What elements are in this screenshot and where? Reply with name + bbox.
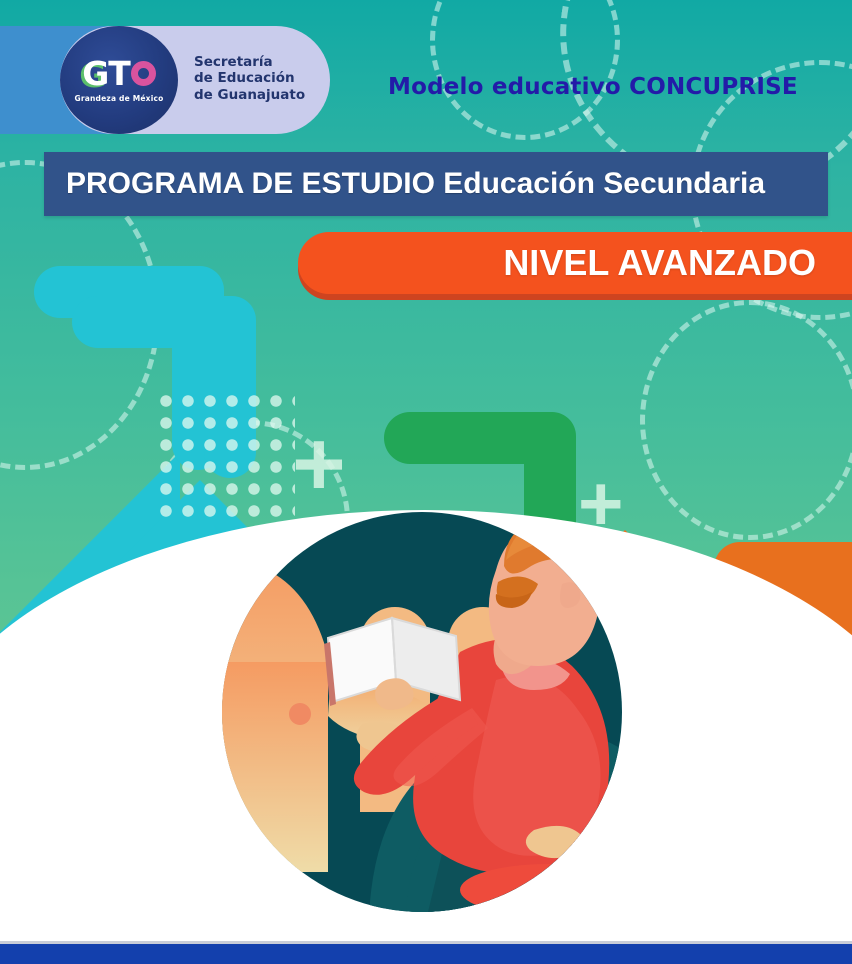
logo-pill: GTO GT Grandeza de México Secretaría de … [60,26,330,134]
gto-logo-tagline: Grandeza de México [75,94,164,103]
stool-stem [540,908,554,922]
gto-wordmark: GTO GT [82,57,156,90]
institution-name: Secretaría de Educación de Guanajuato [194,54,305,103]
illustration-container [210,512,634,922]
program-title-text: PROGRAMA DE ESTUDIO Educación Secundaria [44,167,765,201]
institution-line-3: de Guanajuato [194,87,305,103]
educational-model-label: Modelo educativo CONCUPRISE [388,74,798,100]
gto-logo-letters: G [82,57,108,90]
program-title-bar: PROGRAMA DE ESTUDIO Educación Secundaria [44,152,828,216]
man-reading-book-illustration [210,512,634,922]
plus-sign-icon: + [292,418,346,510]
institution-line-1: Secretaría [194,54,305,70]
stool-seat [460,864,634,916]
gto-logo-letter-t: T [108,57,130,90]
institution-line-2: de Educación [194,70,305,86]
level-banner: NIVEL AVANZADO [298,232,852,294]
background-panel: + + [0,0,852,944]
gto-logo-letter-o [131,61,156,86]
footer-bar [0,944,852,964]
level-banner-text: NIVEL AVANZADO [503,242,852,284]
gto-state-logo-icon: GTO GT Grandeza de México [60,26,178,134]
dot-grid-decoration [155,390,295,518]
cover-page: + + [0,0,852,964]
